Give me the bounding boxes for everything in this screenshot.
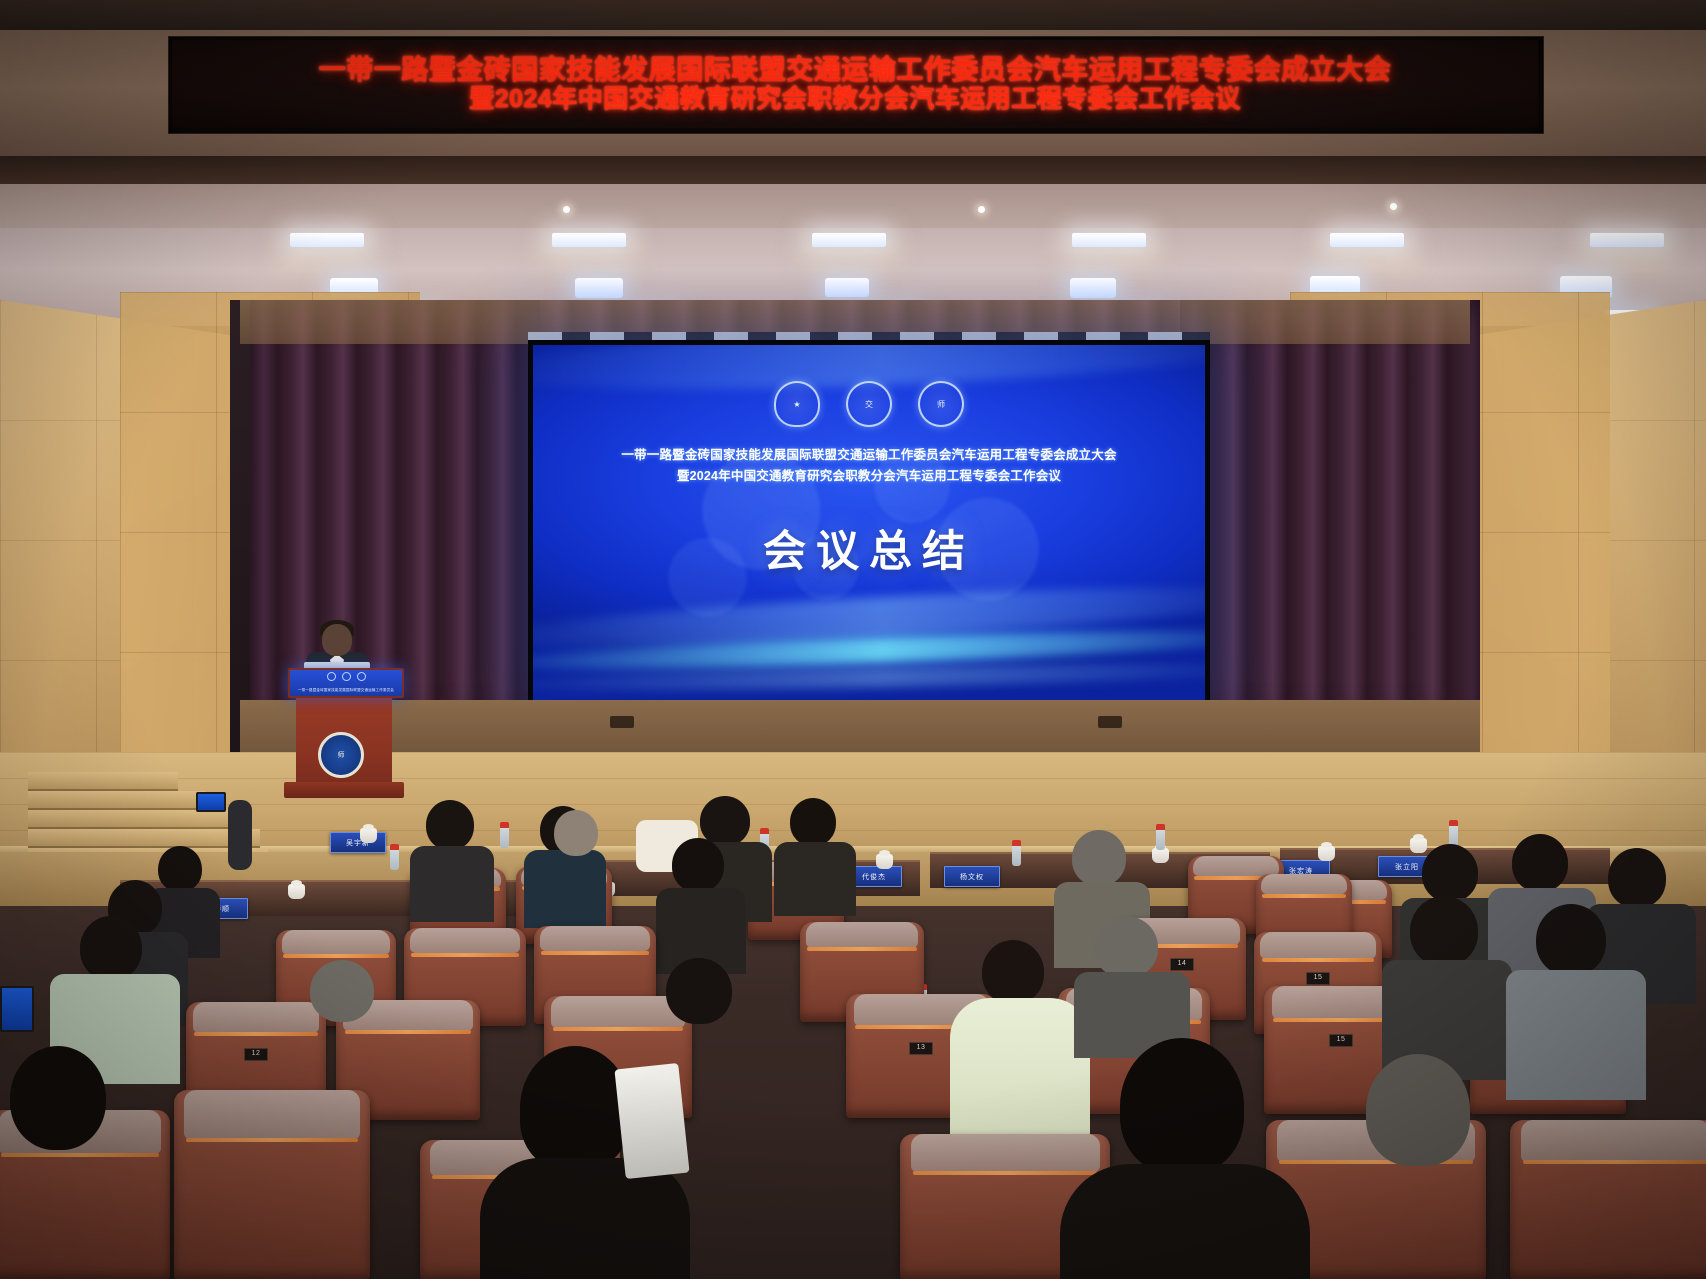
auditorium-seat[interactable]	[174, 1090, 370, 1279]
podium-logo-icon	[342, 672, 351, 681]
stage-vent	[1098, 716, 1122, 728]
nameplate-text: 张立阳	[1395, 862, 1419, 872]
seat-headrest	[911, 1134, 1100, 1172]
seat-headrest	[1521, 1120, 1706, 1162]
seat-headrest	[551, 996, 684, 1028]
person-head	[426, 800, 474, 850]
nameplate-text: 杨文权	[960, 872, 984, 882]
seat-trim	[411, 953, 518, 957]
person-body	[774, 842, 856, 916]
stage-vent	[610, 716, 634, 728]
alliance-emblem-logo: ★	[774, 381, 820, 427]
smartphone-recording	[0, 986, 34, 1032]
screen-main-title: 会议总结	[533, 517, 1205, 579]
ceiling-downlight-icon	[563, 206, 570, 213]
water-bottle	[1012, 840, 1021, 866]
led-banner: 一带一路暨金砖国家技能发展国际联盟交通运输工作委员会汽车运用工程专委会成立大会 …	[172, 40, 1538, 128]
seat-number: 15	[1306, 972, 1330, 985]
person-head	[554, 810, 598, 856]
speaker-head	[322, 624, 352, 656]
transport-research-logo: 交	[846, 381, 892, 427]
seat-trim	[283, 954, 389, 958]
led-banner-line-1: 一带一路暨金砖国家技能发展国际联盟交通运输工作委员会汽车运用工程专委会成立大会	[319, 55, 1392, 85]
ceiling-linear-light	[1590, 233, 1664, 247]
seat-number: 12	[244, 1048, 268, 1061]
seat-number: 14	[1170, 958, 1194, 971]
water-bottle	[500, 822, 509, 848]
person-body	[480, 1158, 690, 1279]
university-seal-logo: 师	[918, 381, 964, 427]
ceiling-downlight-icon	[978, 206, 985, 213]
tea-cup	[1410, 838, 1427, 853]
podium-logo-icon	[357, 672, 366, 681]
podium-base	[284, 782, 404, 798]
podium-emblem-icon: 师	[318, 732, 364, 778]
seat-trim	[1262, 958, 1375, 962]
person-head	[158, 846, 202, 892]
ceiling-linear-light	[1072, 233, 1146, 247]
seat-trim	[194, 1032, 317, 1036]
person-head	[790, 798, 836, 846]
stage-curtain-right	[1180, 300, 1480, 730]
seat-headrest	[806, 922, 918, 948]
person-head	[672, 838, 724, 892]
ceiling-panel-light	[825, 278, 869, 297]
nameplate-text: 代俊杰	[862, 872, 886, 882]
seat-headrest	[282, 930, 390, 955]
person-head	[1072, 830, 1126, 886]
led-banner-line-2: 暨2024年中国交通教育研究会职教分会汽车运用工程专委会工作会议	[469, 85, 1241, 113]
stage-step	[28, 791, 206, 810]
person-head	[666, 958, 732, 1024]
person-body	[410, 846, 494, 922]
ceiling-soffit	[0, 156, 1706, 186]
person-body	[1060, 1164, 1310, 1279]
nameplate: 杨文权	[944, 866, 1000, 887]
seat-trim	[913, 1171, 1098, 1175]
person-head	[520, 1046, 630, 1170]
person-head	[700, 796, 750, 846]
seat-trim	[541, 951, 648, 955]
stage-step	[28, 772, 178, 791]
seat-headrest	[540, 926, 650, 951]
podium-logo-icon	[327, 672, 336, 681]
seat-trim	[1523, 1160, 1706, 1164]
seat-trim	[553, 1027, 683, 1031]
projection-screen: ★ 交 师 一带一路暨金砖国家技能发展国际联盟交通运输工作委员会汽车运用工程专委…	[533, 345, 1205, 700]
person-head	[1120, 1038, 1244, 1174]
person-head	[1512, 834, 1568, 892]
stage-apron-wall	[240, 700, 1480, 760]
person-arm	[228, 800, 252, 870]
ceiling-linear-light	[812, 233, 886, 247]
person-head	[1422, 844, 1478, 902]
seat-trim	[807, 947, 916, 951]
tea-cup	[876, 854, 893, 869]
seat-headrest	[1260, 932, 1375, 959]
ceiling-linear-light	[552, 233, 626, 247]
conference-hall-photo: 一带一路暨金砖国家技能发展国际联盟交通运输工作委员会汽车运用工程专委会成立大会 …	[0, 0, 1706, 1279]
stage-step	[28, 829, 260, 848]
ceiling-linear-light	[290, 233, 364, 247]
tea-cup	[360, 828, 377, 843]
smartphone-recording	[196, 792, 226, 812]
projection-screen-frame: ★ 交 师 一带一路暨金砖国家技能发展国际联盟交通运输工作委员会汽车运用工程专委…	[528, 340, 1210, 705]
tea-cup	[288, 884, 305, 899]
seat-trim	[186, 1138, 358, 1142]
person-head	[1094, 916, 1158, 978]
screen-subtitle-line-2: 暨2024年中国交通教育研究会职教分会汽车运用工程专委会工作会议	[533, 466, 1205, 487]
ceiling-downlight-icon	[1390, 203, 1397, 210]
ceiling-panel-light	[1070, 278, 1116, 298]
ceiling-linear-light	[1330, 233, 1404, 247]
nameplate: 吴宇新	[330, 832, 386, 853]
ceiling-panel-light	[575, 278, 623, 298]
seat-number: 13	[909, 1042, 933, 1055]
person-body	[524, 850, 606, 928]
seat-trim	[345, 1030, 472, 1034]
screen-logo-row: ★ 交 师	[533, 381, 1205, 427]
seat-headrest	[184, 1090, 360, 1139]
person-head	[1366, 1054, 1470, 1166]
podium-led-logo-row	[290, 672, 402, 681]
water-bottle	[1156, 824, 1165, 850]
seat-trim	[1262, 894, 1346, 898]
person-head	[1536, 904, 1606, 976]
seat-number: 15	[1329, 1034, 1353, 1047]
person-head	[80, 916, 142, 980]
seat-headrest	[410, 928, 520, 953]
person-head	[1608, 848, 1666, 908]
screen-subtitle-line-1: 一带一路暨金砖国家技能发展国际联盟交通运输工作委员会汽车运用工程专委会成立大会	[533, 445, 1205, 466]
tea-cup	[1152, 848, 1169, 863]
stage-curtain-left	[250, 300, 540, 730]
person-head	[982, 940, 1044, 1004]
person-body	[1506, 970, 1646, 1100]
seat-headrest	[193, 1002, 319, 1033]
seat-trim	[1, 1153, 159, 1157]
tea-cup	[1318, 846, 1335, 861]
podium-led-text: 一带一路暨金砖国家技能发展国际联盟交通运输工作委员会	[290, 688, 402, 693]
person-head	[310, 960, 374, 1022]
person-head	[1410, 896, 1478, 966]
person-head	[10, 1046, 106, 1150]
ceiling-mid-panel	[0, 184, 1706, 232]
water-bottle	[390, 844, 399, 870]
person-body-hoodie	[950, 998, 1090, 1138]
stage-step	[28, 810, 234, 829]
auditorium-seat[interactable]	[1510, 1120, 1706, 1279]
screen-subtitle-block: 一带一路暨金砖国家技能发展国际联盟交通运输工作委员会汽车运用工程专委会成立大会 …	[533, 445, 1205, 486]
podium-led-display: 一带一路暨金砖国家技能发展国际联盟交通运输工作委员会	[288, 668, 404, 698]
ceiling-top-trim	[0, 0, 1706, 34]
person-document	[614, 1063, 689, 1179]
water-bottle	[1449, 820, 1458, 846]
seat-headrest	[1261, 874, 1347, 894]
